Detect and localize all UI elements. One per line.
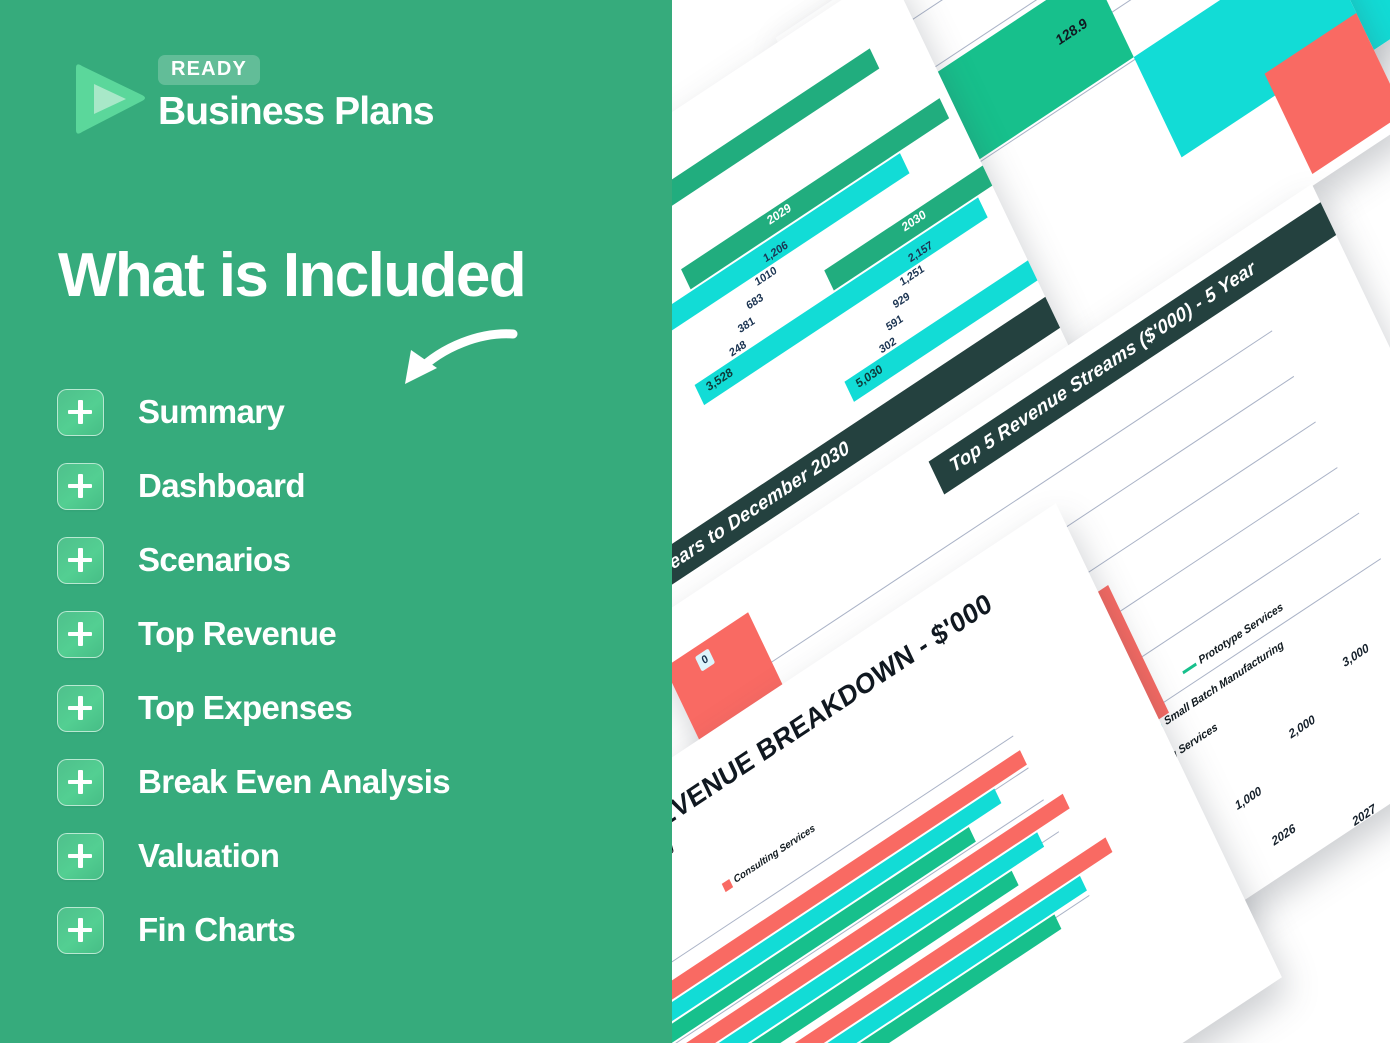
feature-item-dashboard[interactable]: Dashboard xyxy=(57,460,657,512)
legend-swatch xyxy=(722,879,733,892)
ready-badge: READY xyxy=(158,55,260,85)
page-title: What is Included xyxy=(58,245,525,307)
feature-item-summary[interactable]: Summary xyxy=(57,386,657,438)
plus-icon xyxy=(57,685,104,732)
feature-label: Scenarios xyxy=(138,541,290,579)
spreadsheet-collage: ame e of Contents 128.9 2028 2029 2030 6… xyxy=(672,0,1390,1043)
included-features-list: Summary Dashboard Scenarios Top Revenue … xyxy=(57,386,657,978)
feature-label: Break Even Analysis xyxy=(138,763,450,801)
cell-2030-2: 929 xyxy=(891,290,912,311)
legend-prototype-services: Prototype Services xyxy=(1180,601,1285,678)
cell-2030-3: 591 xyxy=(884,313,905,334)
plus-icon xyxy=(57,907,104,954)
axis-value-3000: 3,000 xyxy=(1340,640,1371,669)
plus-icon xyxy=(57,833,104,880)
brand-text: READY Business Plans xyxy=(158,55,434,132)
axis-value-1000: 1,000 xyxy=(1233,783,1264,812)
plus-icon xyxy=(57,759,104,806)
feature-item-top-expenses[interactable]: Top Expenses xyxy=(57,682,657,734)
legend-consulting: Consulting Services xyxy=(721,823,817,893)
axis-value-2000: 2,000 xyxy=(1286,712,1317,741)
left-green-panel: READY Business Plans What is Included Su… xyxy=(0,0,672,1043)
feature-label: Top Expenses xyxy=(138,689,352,727)
feature-item-valuation[interactable]: Valuation xyxy=(57,830,657,882)
feature-item-scenarios[interactable]: Scenarios xyxy=(57,534,657,586)
feature-item-fin-charts[interactable]: Fin Charts xyxy=(57,904,657,956)
feature-item-break-even-analysis[interactable]: Break Even Analysis xyxy=(57,756,657,808)
axis-year-2027: 2027 xyxy=(1350,801,1378,828)
brand-name: Business Plans xyxy=(158,91,434,132)
feature-label: Summary xyxy=(138,393,284,431)
plus-icon xyxy=(57,389,104,436)
feature-label: Dashboard xyxy=(138,467,305,505)
plus-icon xyxy=(57,537,104,584)
legend-swatch xyxy=(1182,662,1197,674)
feature-label: Fin Charts xyxy=(138,911,295,949)
play-triangle-icon xyxy=(70,60,148,138)
plus-icon xyxy=(57,611,104,658)
brand-logo-block: READY Business Plans xyxy=(70,55,490,150)
legend-small-batch-mfg: Small Batch Manufacturing xyxy=(672,842,676,930)
feature-label: Top Revenue xyxy=(138,615,336,653)
axis-year-2026: 2026 xyxy=(1269,821,1297,848)
cell-2029-2: 683 xyxy=(745,291,766,312)
plus-icon xyxy=(57,463,104,510)
cell-2029-3: 381 xyxy=(736,315,757,336)
feature-label: Valuation xyxy=(138,837,279,875)
feature-item-top-revenue[interactable]: Top Revenue xyxy=(57,608,657,660)
